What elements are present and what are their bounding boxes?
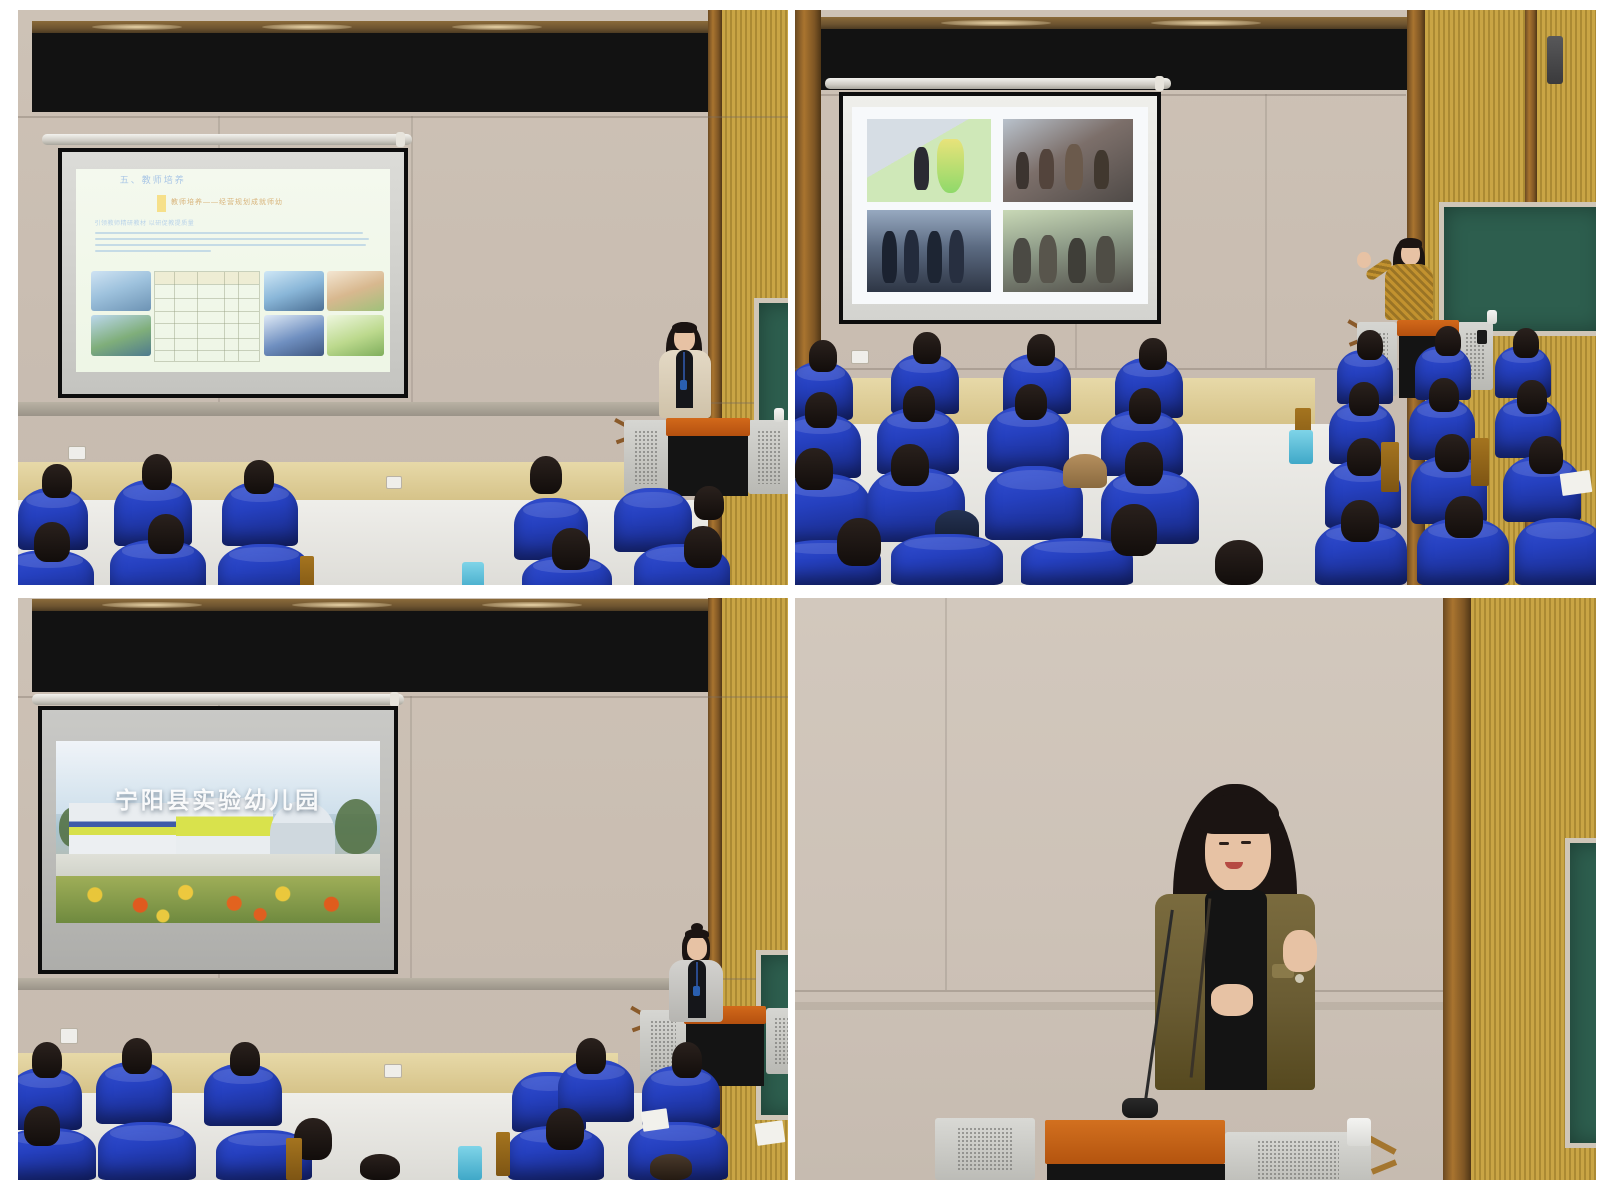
audience-head <box>552 528 590 570</box>
audience-head <box>650 1154 692 1180</box>
slide-photo <box>867 119 991 202</box>
audience-chair <box>891 534 1003 585</box>
audience-head <box>148 514 184 554</box>
paper-sheet <box>755 1120 786 1146</box>
audience-head <box>1529 436 1563 474</box>
slide-photo <box>327 271 384 312</box>
audience-chair <box>614 488 692 552</box>
panel-top-left[interactable]: 五、教师培养 教师培养——经营规划成就师幼 引领教师精研教材 以研促教提质量 <box>18 10 788 585</box>
audience-head <box>1111 504 1157 556</box>
seat-desk <box>300 556 314 585</box>
audience-head <box>1435 434 1469 472</box>
projection-screen: 五、教师培养 教师培养——经营规划成就师幼 引领教师精研教材 以研促教提质量 <box>58 148 408 398</box>
speaker-person <box>666 928 730 1024</box>
chalkboard <box>1565 838 1596 1148</box>
tote-bag <box>1289 430 1313 464</box>
audience-head <box>1513 328 1539 358</box>
water-bottle <box>774 408 784 422</box>
audience-head <box>903 386 935 422</box>
audience-head <box>530 456 562 494</box>
audience-head <box>546 1108 584 1150</box>
audience-head <box>142 454 172 490</box>
podium-top <box>666 418 750 436</box>
audience-head <box>42 464 72 498</box>
audience-head <box>32 1042 62 1078</box>
speaker-hand <box>1357 252 1371 268</box>
podium[interactable] <box>915 1106 1425 1180</box>
audience-head <box>1357 330 1383 360</box>
audience-head <box>684 526 722 568</box>
podium[interactable] <box>614 408 788 498</box>
water-bottle <box>1487 310 1497 324</box>
seat-desk <box>286 1138 302 1180</box>
paper-sheet <box>641 1108 670 1131</box>
audience-head <box>1445 496 1483 538</box>
audience-head <box>1139 338 1167 370</box>
wall-outlet <box>60 1028 78 1044</box>
audience-head <box>1347 438 1381 476</box>
seat-desk <box>1471 438 1489 486</box>
audience-head <box>1349 382 1379 416</box>
slide-photo-grid <box>852 107 1147 304</box>
slide-banner: 教师培养——经营规划成就师幼 <box>157 195 308 211</box>
audience-head <box>1215 540 1263 585</box>
panel-bottom-left[interactable]: 宁阳县实验幼儿园 <box>18 598 788 1180</box>
audience-chair <box>98 1122 196 1180</box>
paper-sheet <box>1560 470 1593 496</box>
slide-document: 五、教师培养 教师培养——经营规划成就师幼 引领教师精研教材 以研促教提质量 <box>76 169 391 372</box>
slide-table <box>154 271 260 362</box>
tote-bag <box>462 562 484 585</box>
slide-photo <box>91 271 151 312</box>
speaker-jacket <box>1385 264 1433 320</box>
projector-screen-roller <box>32 694 404 705</box>
audience-head <box>913 332 941 364</box>
wall-outlet <box>68 446 86 460</box>
audience-head <box>1129 388 1161 424</box>
audience-head <box>672 1042 702 1078</box>
audience-head <box>24 1106 60 1146</box>
audience-head <box>891 444 929 486</box>
audience-head <box>1429 378 1459 412</box>
audience-head <box>360 1154 400 1180</box>
audience-head <box>1341 500 1379 542</box>
speaker-person <box>654 320 716 420</box>
speaker-hand-left <box>1211 984 1253 1016</box>
audience-head <box>1517 380 1547 414</box>
slide-banner-text: 教师培养——经营规划成就师幼 <box>171 197 283 207</box>
audience-head <box>1435 326 1461 356</box>
slide-paragraph <box>95 232 372 256</box>
audience-head <box>122 1038 152 1074</box>
tote-bag <box>458 1146 482 1180</box>
panel-bottom-right[interactable] <box>795 598 1596 1180</box>
audience-head <box>837 518 881 566</box>
jacket-button <box>1295 974 1304 983</box>
audience-head <box>809 340 837 372</box>
projection-screen <box>839 92 1161 324</box>
smartphone <box>1477 330 1487 344</box>
roller-end-cap <box>390 692 399 707</box>
slide-headline: 宁阳县实验幼儿园 <box>56 781 380 815</box>
ceiling-valance <box>32 610 708 692</box>
audience-head <box>230 1042 260 1076</box>
audience-head <box>795 448 833 490</box>
slide-subheading: 引领教师精研教材 以研促教提质量 <box>95 218 195 227</box>
slide-photo <box>91 315 151 356</box>
projector-screen-roller <box>825 78 1171 89</box>
floor-outlet <box>384 1064 402 1078</box>
slide-photo <box>264 271 324 312</box>
audience-head <box>244 460 274 494</box>
slide-title: 五、教师培养 <box>120 173 186 186</box>
slide-photo <box>1003 210 1133 293</box>
speaker-hand-right <box>1283 930 1317 972</box>
ceiling-valance <box>32 32 708 112</box>
audience-cap <box>1063 454 1107 488</box>
audience-chair <box>218 544 310 585</box>
audience-head <box>805 392 837 428</box>
audience-head <box>1015 384 1047 420</box>
audience-head <box>1125 442 1163 486</box>
slide-photo <box>1003 119 1133 202</box>
wood-trim-vertical <box>1443 598 1471 1180</box>
roller-end-cap <box>396 132 405 147</box>
speaker-person <box>1361 238 1447 324</box>
slide-photo <box>327 315 384 356</box>
slide-cover-photo: 宁阳县实验幼儿园 <box>56 741 380 923</box>
slide-photo <box>264 315 324 356</box>
ceiling-speaker <box>1547 36 1563 84</box>
audience-chair <box>1515 518 1596 585</box>
wall-outlet <box>851 350 869 364</box>
audience-head <box>576 1038 606 1074</box>
projection-screen: 宁阳县实验幼儿园 <box>38 706 398 974</box>
photo-collage: 五、教师培养 教师培养——经营规划成就师幼 引领教师精研教材 以研促教提质量 <box>0 0 1600 1200</box>
audience-head <box>34 522 70 562</box>
projector-screen-roller <box>42 134 412 145</box>
roller-end-cap <box>1155 76 1164 91</box>
seat-desk <box>496 1132 510 1176</box>
panel-top-right[interactable] <box>795 10 1596 585</box>
podium-top <box>1045 1120 1225 1164</box>
slide-photo <box>867 210 991 293</box>
audience-head <box>1027 334 1055 366</box>
floor-outlet <box>386 476 402 489</box>
audience-head <box>694 486 724 520</box>
seat-desk <box>1381 442 1399 492</box>
water-bottle <box>1347 1118 1371 1146</box>
